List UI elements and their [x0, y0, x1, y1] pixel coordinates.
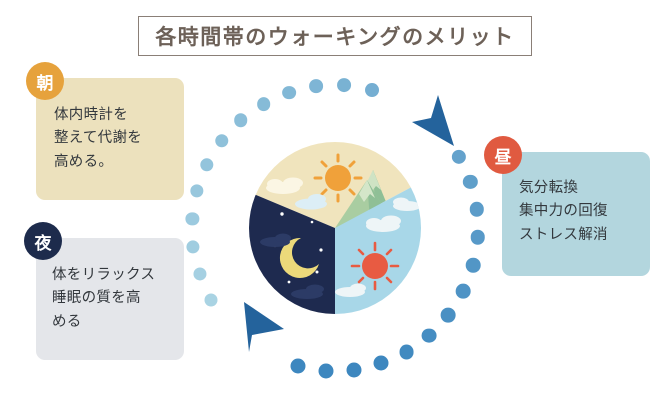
- card-noon[interactable]: 気分転換 集中力の回復 ストレス解消: [502, 152, 650, 276]
- cycle-dot: [186, 212, 199, 225]
- cycle-dot: [200, 158, 213, 171]
- cycle-dot: [337, 78, 351, 92]
- cycle-dot: [373, 356, 388, 371]
- cycle-dot: [257, 97, 271, 111]
- page-title: 各時間帯のウォーキングのメリット: [155, 21, 514, 51]
- cycle-dot: [234, 114, 248, 128]
- cycle-dot: [215, 134, 228, 147]
- card-night[interactable]: 体をリラックス 睡眠の質を高 める: [36, 238, 184, 360]
- cycle-dot: [399, 344, 414, 359]
- badge-morning: 朝: [26, 62, 64, 100]
- cycle-dot: [290, 359, 305, 374]
- infographic-canvas: 各時間帯のウォーキングのメリット: [0, 0, 670, 400]
- cycle-dot: [441, 308, 456, 323]
- card-night-body: 体をリラックス 睡眠の質を高 める: [52, 264, 155, 334]
- day-night-cycle-globe: [249, 142, 421, 314]
- cycle-dot: [463, 175, 477, 189]
- cycle-dot: [470, 230, 485, 245]
- badge-noon: 昼: [484, 136, 522, 174]
- card-noon-body: 気分転換 集中力の回復 ストレス解消: [519, 177, 608, 247]
- page-title-box: 各時間帯のウォーキングのメリット: [138, 16, 532, 56]
- cycle-dot: [318, 363, 333, 378]
- badge-night: 夜: [24, 222, 62, 260]
- cycle-dot: [205, 293, 218, 306]
- cycle-dot: [190, 184, 203, 197]
- cycle-dot: [466, 258, 481, 273]
- cycle-dot: [365, 83, 379, 97]
- cycle-dot: [346, 362, 361, 377]
- cycle-dot: [193, 267, 206, 280]
- card-morning[interactable]: 体内時計を 整えて代謝を 高める。: [36, 78, 184, 200]
- cycle-dot: [187, 240, 200, 253]
- cycle-dot: [470, 202, 484, 216]
- cycle-dot: [309, 79, 323, 93]
- cycle-dot: [422, 328, 437, 343]
- cycle-dot: [282, 86, 296, 100]
- card-morning-body: 体内時計を 整えて代謝を 高める。: [54, 104, 142, 174]
- cycle-dot: [456, 284, 471, 299]
